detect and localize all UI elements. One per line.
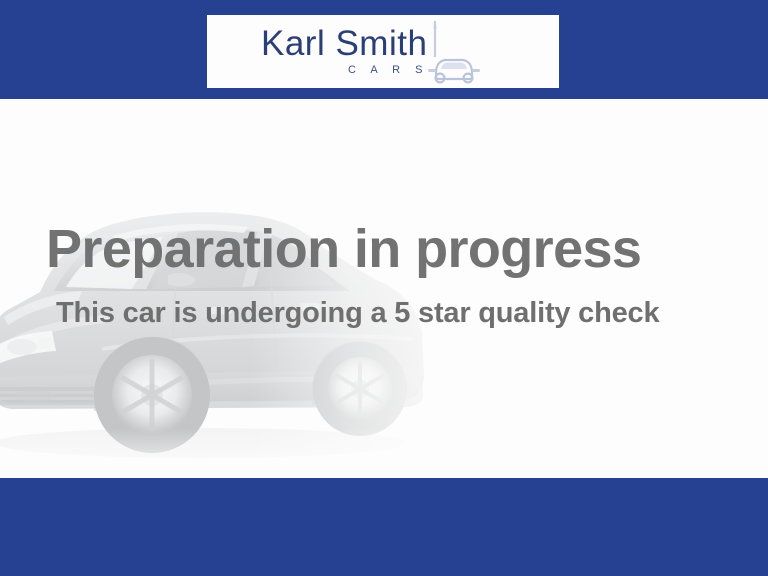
page-subtitle: This car is undergoing a 5 star quality … [56,299,659,328]
logo-box: Karl Smith C A R S [207,15,559,88]
logo-subtext: C A R S [348,65,429,76]
main-stage [0,99,768,478]
placeholder-vehicle-image: Karl Smith C A R S [0,0,768,576]
logo: Karl Smith C A R S [207,15,559,88]
page-title: Preparation in progress [46,222,641,276]
logo-wordmark: Karl Smith [261,26,427,61]
footer-band: WWW.KARLSMITHCARS.COM 01253 404101 [0,478,768,576]
car-front-icon [425,56,483,84]
antenna-icon [431,21,439,57]
header-band: Karl Smith C A R S [0,0,768,99]
